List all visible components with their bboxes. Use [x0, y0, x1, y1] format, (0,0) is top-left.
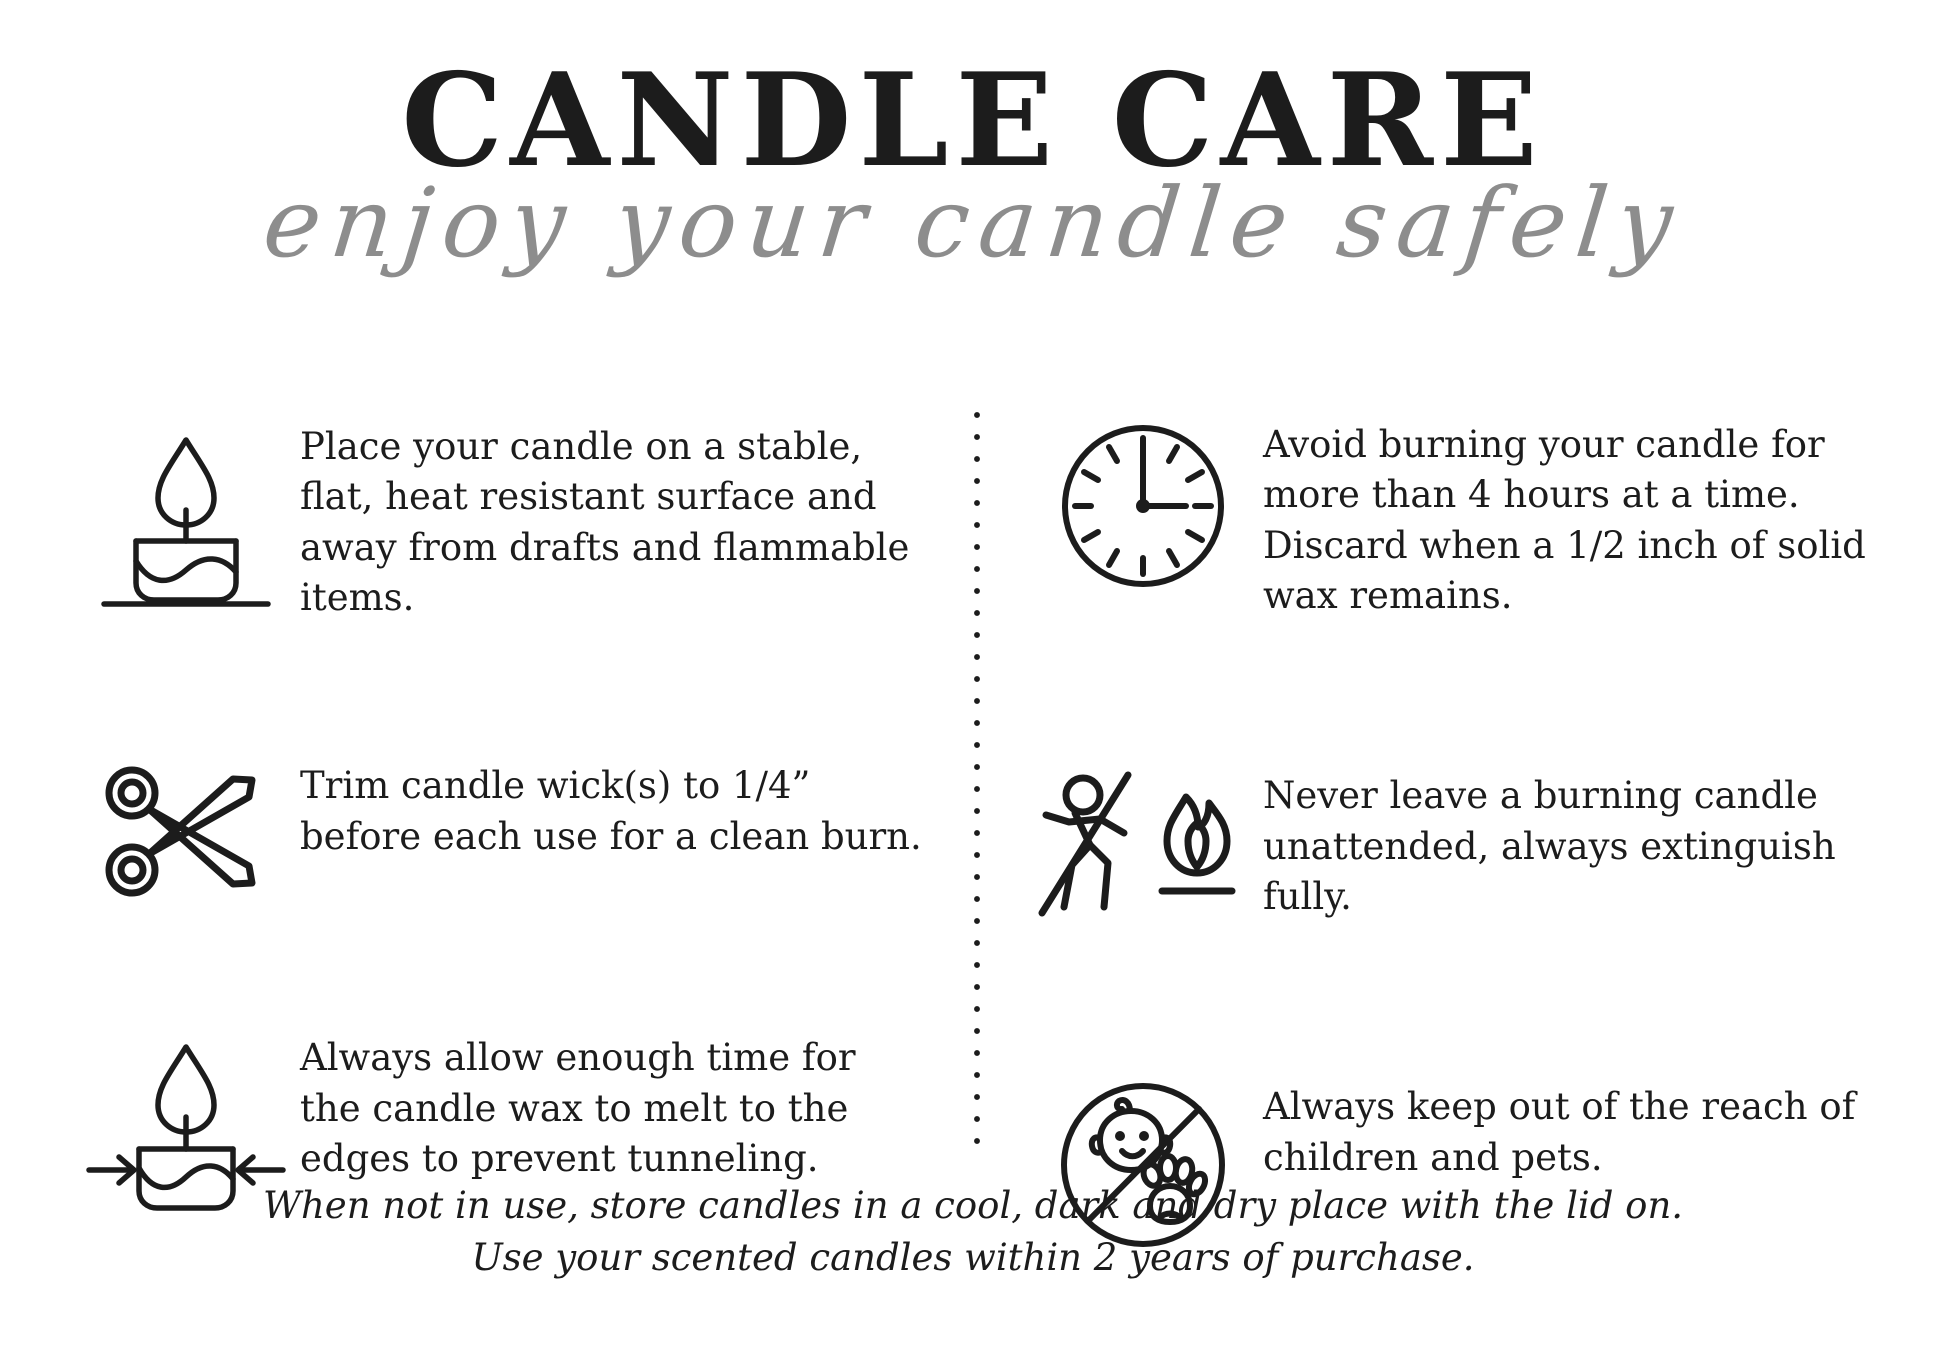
tip-never-unattended: Never leave a burning candle unattended,… — [1023, 767, 1886, 922]
scissors-icon — [70, 757, 300, 907]
tip-text: Always allow enough time for the candle … — [300, 1029, 923, 1184]
header: CANDLE CARE enjoy your candle safely — [0, 56, 1946, 273]
tips-column-left: Place your candle on a stable, flat, hea… — [0, 400, 973, 1180]
tip-place-candle: Place your candle on a stable, flat, hea… — [70, 418, 923, 623]
candle-care-card: CANDLE CARE enjoy your candle safely — [0, 0, 1946, 1363]
tip-trim-wick: Trim candle wick(s) to 1/4” before each … — [70, 757, 923, 907]
footer-line-1: When not in use, store candles in a cool… — [0, 1180, 1946, 1233]
footer: When not in use, store candles in a cool… — [0, 1180, 1946, 1285]
tip-text: Trim candle wick(s) to 1/4” before each … — [300, 757, 923, 862]
page-subtitle: enjoy your candle safely — [0, 173, 1946, 274]
tip-text: Never leave a burning candle unattended,… — [1263, 767, 1886, 922]
tips-area: Place your candle on a stable, flat, hea… — [0, 400, 1946, 1180]
tip-text: Place your candle on a stable, flat, hea… — [300, 418, 923, 623]
person-leaving-flame-icon — [1023, 767, 1263, 922]
tips-column-right: Avoid burning your candle for more than … — [973, 400, 1946, 1180]
tip-text: Avoid burning your candle for more than … — [1263, 416, 1886, 621]
tip-burn-time: Avoid burning your candle for more than … — [1023, 416, 1886, 621]
candle-jar-on-surface-icon — [70, 418, 300, 608]
tip-text: Always keep out of the reach of children… — [1263, 1078, 1886, 1183]
clock-icon — [1023, 416, 1263, 596]
footer-line-2: Use your scented candles within 2 years … — [0, 1232, 1946, 1285]
